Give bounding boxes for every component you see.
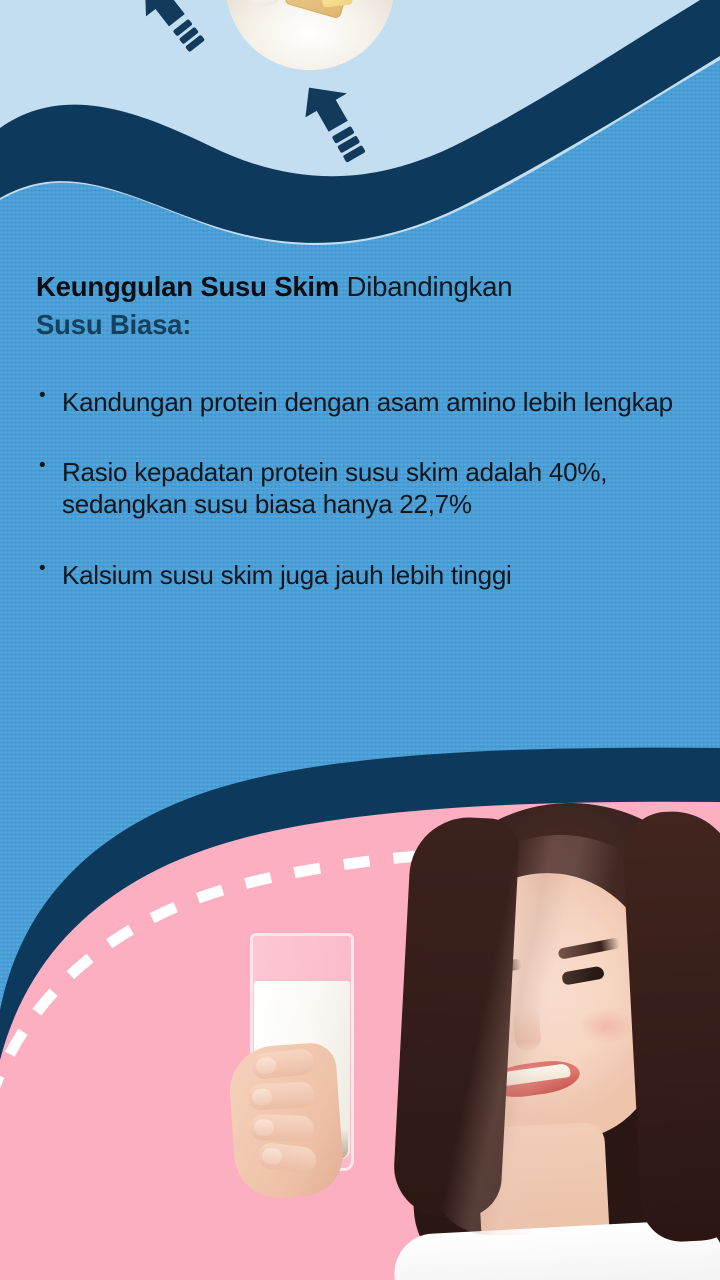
milk-glass-group xyxy=(232,933,372,1203)
page-title: Keunggulan Susu Skim Dibandingkan Susu B… xyxy=(36,268,688,344)
finger-3 xyxy=(250,1114,315,1142)
dashed-arrow-up-right-icon-1 xyxy=(118,0,214,54)
headline-normal: Dibandingkan xyxy=(339,271,512,302)
headline-bold: Keunggulan Susu Skim xyxy=(36,271,339,302)
list-item: Rasio kepadatan protein susu skim adalah… xyxy=(36,456,688,520)
woman-with-milk-photo xyxy=(180,795,720,1280)
list-item-text: Rasio kepadatan protein susu skim adalah… xyxy=(62,457,607,519)
vitamin-jar-photo: Vitamin xyxy=(487,0,683,42)
fingernail xyxy=(261,1147,283,1165)
fingernail xyxy=(252,1088,273,1105)
benefits-list: Kandungan protein dengan asam amino lebi… xyxy=(36,386,688,591)
list-item-text: Kandungan protein dengan asam amino lebi… xyxy=(62,387,673,417)
list-item-text: Kalsium susu skim juga jauh lebih tinggi xyxy=(62,560,512,590)
list-item: Kalsium susu skim juga jauh lebih tinggi xyxy=(36,559,688,591)
text-content-block: Keunggulan Susu Skim Dibandingkan Susu B… xyxy=(36,268,688,591)
finger-2 xyxy=(247,1081,314,1110)
fingernail xyxy=(255,1057,277,1075)
poster-canvas: Vitamin Keunggulan Susu Skim Dibandingka… xyxy=(0,0,720,1280)
dashed-arrow-up-right-icon-2 xyxy=(282,78,378,170)
fingernail xyxy=(254,1119,275,1136)
hair-shine xyxy=(430,835,690,1235)
list-item: Kandungan protein dengan asam amino lebi… xyxy=(36,386,688,418)
food-plate-photo xyxy=(226,0,394,70)
headline-second-line: Susu Biasa: xyxy=(36,309,191,340)
